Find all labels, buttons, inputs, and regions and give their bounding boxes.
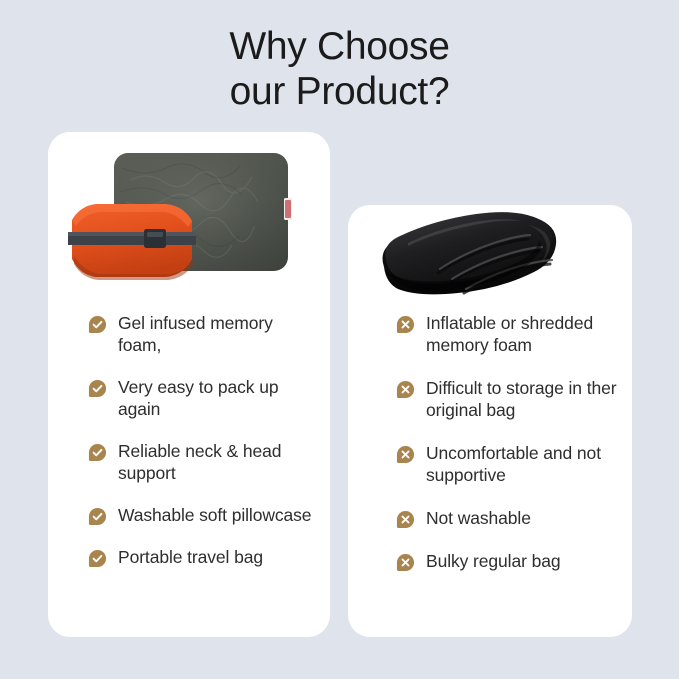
list-item-label: Difficult to storage in ther original ba…	[426, 377, 624, 421]
list-item: Uncomfortable and not supportive	[396, 442, 624, 486]
inflatable-pillow-illustration	[348, 205, 632, 315]
list-item: Not washable	[396, 507, 624, 529]
list-item: Bulky regular bag	[396, 550, 624, 572]
list-item-label: Not washable	[426, 507, 531, 529]
list-item-label: Portable travel bag	[118, 546, 263, 568]
cross-icon	[396, 510, 415, 529]
memory-foam-pillow-illustration	[48, 132, 330, 302]
page-title: Why Choose our Product?	[0, 24, 679, 114]
check-icon	[88, 315, 107, 334]
cross-icon	[396, 315, 415, 334]
check-icon	[88, 507, 107, 526]
check-icon	[88, 443, 107, 462]
list-item-label: Washable soft pillowcase	[118, 504, 311, 526]
cross-icon	[396, 445, 415, 464]
black-inflatable-pillow	[383, 212, 557, 294]
check-icon	[88, 379, 107, 398]
list-item: Inflatable or shredded memory foam	[396, 312, 624, 356]
list-item-label: Bulky regular bag	[426, 550, 561, 572]
our-product-photo	[48, 132, 330, 302]
list-item: Portable travel bag	[88, 546, 318, 568]
list-item: Difficult to storage in ther original ba…	[396, 377, 624, 421]
list-item: Very easy to pack up again	[88, 376, 318, 420]
cross-icon	[396, 553, 415, 572]
other-product-drawback-list: Inflatable or shredded memory foam Diffi…	[396, 312, 624, 593]
our-product-feature-list: Gel infused memory foam, Very easy to pa…	[88, 312, 318, 588]
page-title-line-2: our Product?	[0, 69, 679, 114]
cross-icon	[396, 380, 415, 399]
list-item: Washable soft pillowcase	[88, 504, 318, 526]
list-item: Gel infused memory foam,	[88, 312, 318, 356]
check-icon	[88, 549, 107, 568]
list-item: Reliable neck & head support	[88, 440, 318, 484]
list-item-label: Uncomfortable and not supportive	[426, 442, 624, 486]
list-item-label: Reliable neck & head support	[118, 440, 318, 484]
orange-travel-bag	[68, 204, 196, 280]
page-title-line-1: Why Choose	[229, 25, 449, 68]
list-item-label: Very easy to pack up again	[118, 376, 318, 420]
list-item-label: Gel infused memory foam,	[118, 312, 318, 356]
other-product-photo	[348, 205, 632, 315]
list-item-label: Inflatable or shredded memory foam	[426, 312, 624, 356]
